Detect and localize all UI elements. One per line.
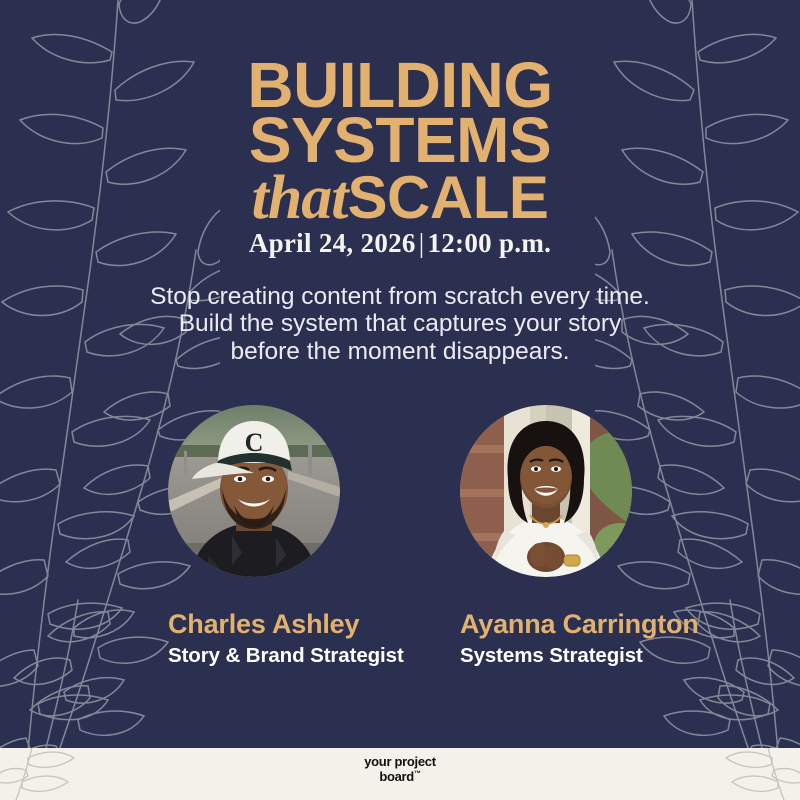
svg-text:C: C [245,428,264,457]
avatar [460,405,632,577]
title-word-scale: SCALE [348,164,549,231]
brand-logo: your project board™ [0,755,800,784]
speaker-role: Story & Brand Strategist [168,644,340,668]
headshot-ayanna-carrington-photo [460,405,632,577]
logo-line-1: your project [0,755,800,770]
speaker-card-ayanna-carrington: Ayanna Carrington Systems Strategist [460,405,632,668]
headshot-charles-ashley-photo: C [168,405,340,577]
title-line-that-scale: thatSCALE [0,170,800,227]
poster-title: BUILDING SYSTEMS thatSCALE [0,58,800,227]
title-line-systems: SYSTEMS [0,113,800,168]
footer-bar: your project board™ [0,748,800,800]
speaker-list: C Charles Ashley Story & Brand Strategis… [0,405,800,668]
speaker-card-charles-ashley: C Charles Ashley Story & Brand Strategis… [168,405,340,668]
trademark-symbol: ™ [414,770,421,777]
speaker-role: Systems Strategist [460,644,632,668]
event-poster: BUILDING SYSTEMS thatSCALE April 24, 202… [0,0,800,800]
logo-word-board: board [379,769,414,784]
datetime-separator: | [416,228,428,258]
event-description: Stop creating content from scratch every… [150,283,650,365]
avatar: C [168,405,340,577]
event-date: April 24, 2026 [249,228,416,258]
logo-line-2: board™ [0,770,800,785]
event-datetime: April 24, 2026|12:00 p.m. [0,228,800,259]
speaker-name: Charles Ashley [168,609,340,640]
title-word-that: that [252,164,348,232]
speaker-name: Ayanna Carrington [460,609,632,640]
event-time: 12:00 p.m. [427,228,551,258]
